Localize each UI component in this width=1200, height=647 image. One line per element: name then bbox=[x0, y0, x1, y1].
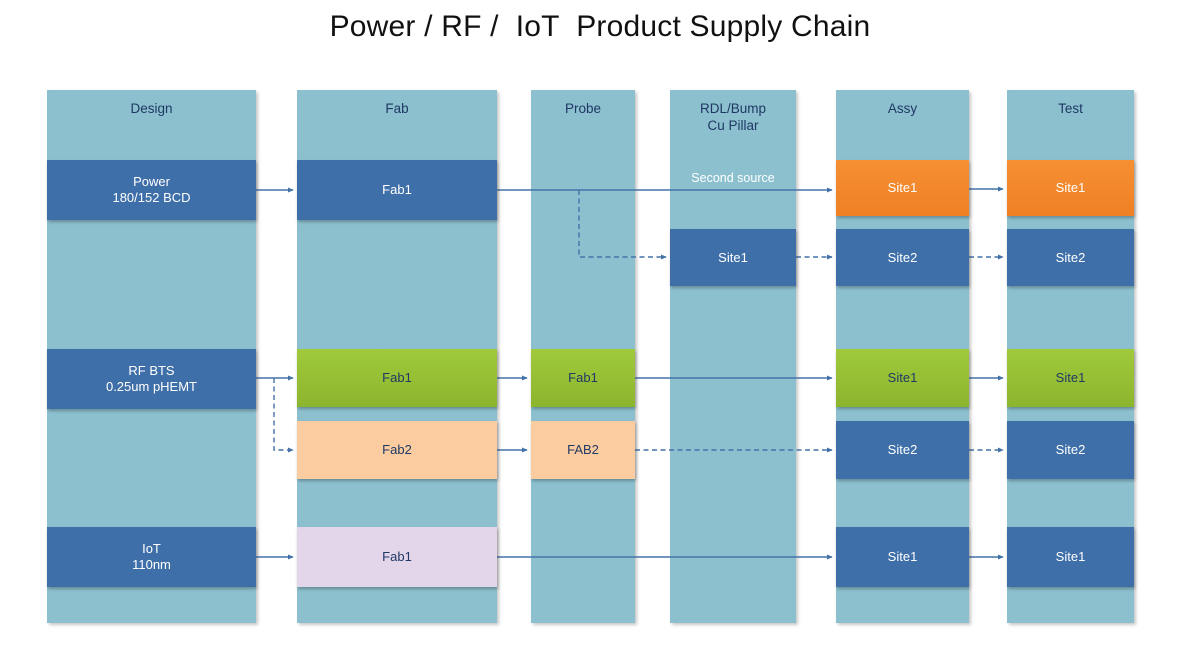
node-label: Power 180/152 BCD bbox=[112, 174, 190, 206]
node-label: Site1 bbox=[1056, 370, 1086, 386]
node-test-rf-2[interactable]: Site2 bbox=[1007, 421, 1134, 479]
column-header-design: Design bbox=[47, 100, 256, 117]
node-label: Site1 bbox=[888, 370, 918, 386]
node-label: Site2 bbox=[1056, 442, 1086, 458]
node-label: Site1 bbox=[1056, 180, 1086, 196]
node-fab-iot-1[interactable]: Fab1 bbox=[297, 527, 497, 587]
node-label: RF BTS 0.25um pHEMT bbox=[106, 363, 197, 395]
node-assy-power-1[interactable]: Site1 bbox=[836, 160, 969, 216]
stage-column-rdl: RDL/Bump Cu Pillar bbox=[670, 90, 796, 623]
column-header-test: Test bbox=[1007, 100, 1134, 117]
page-title: Power / RF / IoT Product Supply Chain bbox=[0, 10, 1200, 44]
node-design-iot[interactable]: IoT 110nm bbox=[47, 527, 256, 587]
node-label: Site2 bbox=[888, 250, 918, 266]
node-label: Site1 bbox=[718, 250, 748, 266]
node-label: Fab1 bbox=[568, 370, 598, 386]
node-probe-rf-1[interactable]: Fab1 bbox=[531, 349, 635, 407]
node-label: Site2 bbox=[888, 442, 918, 458]
node-test-iot-1[interactable]: Site1 bbox=[1007, 527, 1134, 587]
node-assy-rf-1[interactable]: Site1 bbox=[836, 349, 969, 407]
node-assy-iot-1[interactable]: Site1 bbox=[836, 527, 969, 587]
node-label: Site1 bbox=[1056, 549, 1086, 565]
node-label: FAB2 bbox=[567, 442, 599, 458]
node-probe-rf-2[interactable]: FAB2 bbox=[531, 421, 635, 479]
node-label: Fab1 bbox=[382, 370, 412, 386]
node-design-rf[interactable]: RF BTS 0.25um pHEMT bbox=[47, 349, 256, 409]
node-label: Fab2 bbox=[382, 442, 412, 458]
node-fab-rf-2[interactable]: Fab2 bbox=[297, 421, 497, 479]
node-test-rf-1[interactable]: Site1 bbox=[1007, 349, 1134, 407]
column-header-rdl: RDL/Bump Cu Pillar bbox=[670, 100, 796, 134]
node-rdl-site1[interactable]: Site1 bbox=[670, 229, 796, 286]
node-test-power-1[interactable]: Site1 bbox=[1007, 160, 1134, 216]
node-label: Site2 bbox=[1056, 250, 1086, 266]
node-design-power[interactable]: Power 180/152 BCD bbox=[47, 160, 256, 220]
node-assy-power-2[interactable]: Site2 bbox=[836, 229, 969, 286]
column-header-assy: Assy bbox=[836, 100, 969, 117]
node-assy-rf-2[interactable]: Site2 bbox=[836, 421, 969, 479]
connector-design-rf-to-fab2 bbox=[274, 378, 293, 450]
node-label: IoT 110nm bbox=[132, 541, 171, 573]
node-label: Site1 bbox=[888, 180, 918, 196]
column-header-probe: Probe bbox=[531, 100, 635, 117]
node-fab-rf-1[interactable]: Fab1 bbox=[297, 349, 497, 407]
node-label: Fab1 bbox=[382, 549, 412, 565]
node-label: Site1 bbox=[888, 549, 918, 565]
node-test-power-2[interactable]: Site2 bbox=[1007, 229, 1134, 286]
slide-canvas: Power / RF / IoT Product Supply Chain De… bbox=[0, 0, 1200, 647]
node-label: Fab1 bbox=[382, 182, 412, 198]
node-fab-power-1[interactable]: Fab1 bbox=[297, 160, 497, 220]
annotation-second-source-label: Second source bbox=[670, 171, 796, 186]
column-header-fab: Fab bbox=[297, 100, 497, 117]
